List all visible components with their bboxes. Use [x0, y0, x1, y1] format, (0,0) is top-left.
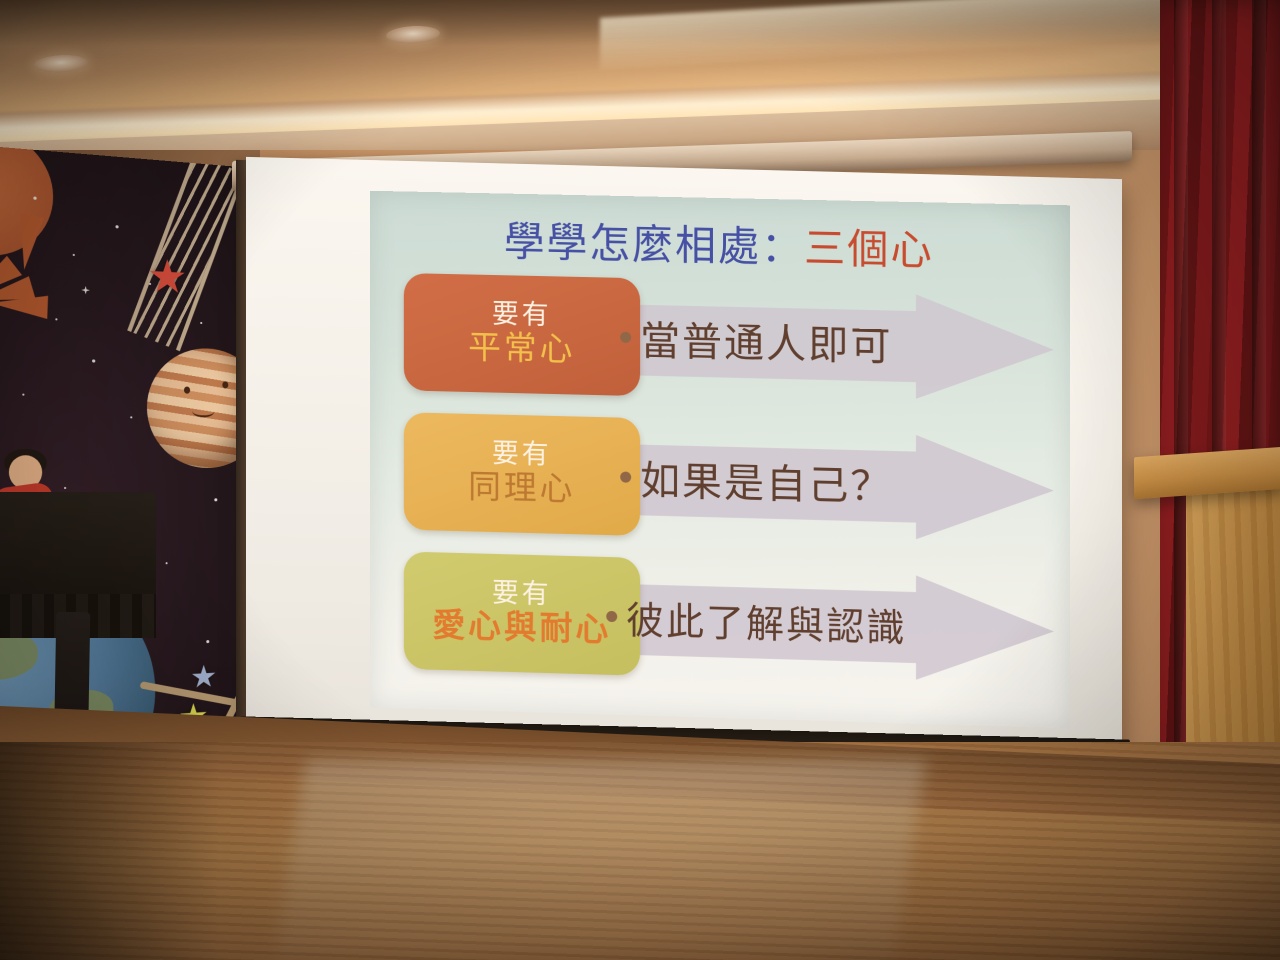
chip-keyword-label: 平常心 — [468, 328, 575, 368]
slide-title-blue: 學學怎麼相處 — [504, 217, 761, 270]
stage-floor-shadow — [0, 742, 220, 960]
slide-row: 要有 平常心 當普通人即可 — [370, 272, 1070, 408]
bullet-dot-icon — [620, 471, 631, 482]
bullet-line: 彼此了解與認識 — [606, 585, 1037, 659]
bullet-dot-icon — [620, 331, 631, 342]
chip-keyword-label: 同理心 — [468, 468, 575, 509]
red-star-icon: ★ — [147, 254, 188, 301]
bullet-text: 當普通人即可 — [640, 308, 892, 372]
bullet-line: 當普通人即可 — [620, 306, 1052, 378]
bullet-line: 如果是自己？ — [620, 446, 1052, 519]
slide-title: 學學怎麼相處：三個心 — [370, 205, 1070, 280]
photo-scene: ★ ★ ★ ★ 學學怎麼相處：三個心 — [0, 0, 1280, 960]
slide-row: 要有 同理心 如果是自己？ — [370, 411, 1070, 549]
chip-keyword-label: 愛心與耐心 — [433, 606, 612, 649]
bullet-text: 彼此了解與認識 — [626, 589, 906, 652]
space-wall-mural: ★ ★ ★ ★ — [0, 146, 252, 790]
chip-prefix-label: 要有 — [492, 580, 552, 610]
slide-title-red: 三個心 — [804, 224, 934, 275]
concept-chip: 要有 同理心 — [404, 412, 640, 536]
screen-reflection-on-floor — [274, 760, 926, 960]
bullet-text: 如果是自己？ — [640, 448, 892, 513]
blue-star-icon: ★ — [190, 662, 217, 694]
chip-prefix-label: 要有 — [492, 301, 552, 331]
chip-prefix-label: 要有 — [492, 440, 552, 470]
slide-row: 要有 愛心與耐心 彼此了解與認識 — [370, 551, 1070, 691]
bullet-dot-icon — [606, 610, 617, 621]
projected-slide: 學學怎麼相處：三個心 要有 平常心 當普通人即可 要有 同理心 如果是自己？ — [370, 191, 1070, 729]
concept-chip: 要有 平常心 — [404, 273, 640, 396]
concept-chip: 要有 愛心與耐心 — [404, 551, 640, 675]
slide-title-colon: ： — [761, 223, 804, 272]
